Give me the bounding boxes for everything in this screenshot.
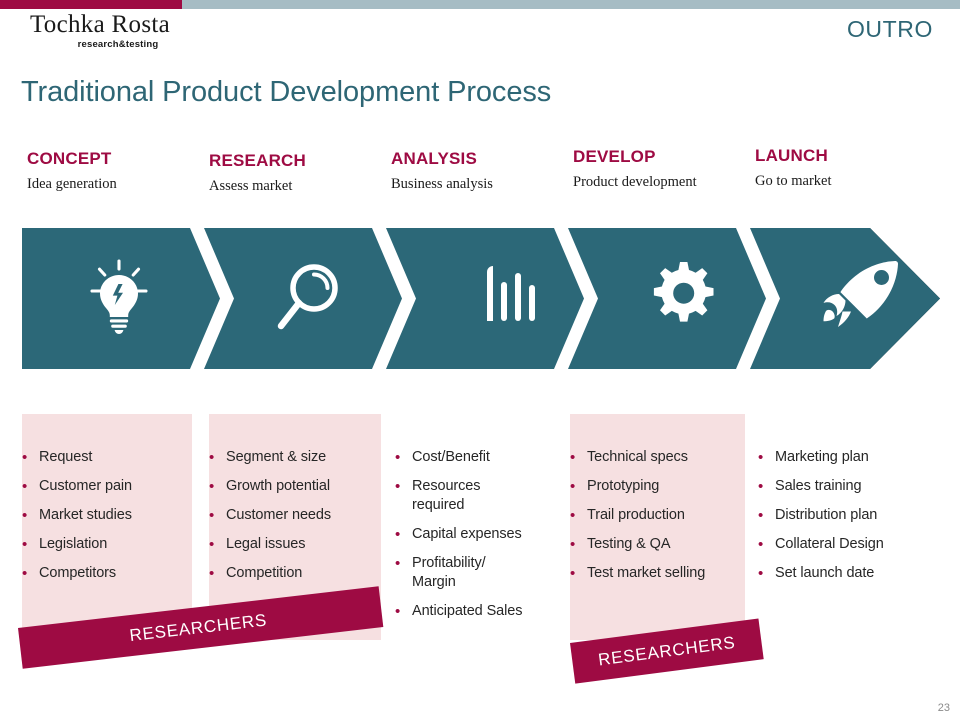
stage-subtitle: Go to market: [755, 174, 832, 189]
list-item-label: Cost/Benefit: [412, 448, 490, 467]
top-accent-bar-gray: [182, 0, 960, 9]
process-chevron-band: [22, 228, 940, 369]
bullet-glyph: •: [758, 535, 775, 554]
stage-subtitle: Assess market: [209, 179, 306, 194]
bullet-glyph: •: [22, 564, 39, 583]
list-item-label: Distribution plan: [775, 506, 877, 525]
list-item-label: Capital expenses: [412, 525, 522, 544]
list-item: • Prototyping: [570, 477, 745, 496]
stage-title: LAUNCH: [755, 147, 832, 164]
bullet-glyph: •: [395, 602, 412, 621]
bullet-glyph: •: [570, 506, 587, 525]
stage-title: ANALYSIS: [391, 150, 493, 167]
bullet-glyph: •: [209, 535, 226, 554]
list-item-label: Testing & QA: [587, 535, 670, 554]
list-item-label: Resources required: [412, 477, 508, 515]
list-item-label: Profitability/ Margin: [412, 554, 504, 592]
stage-subtitle: Business analysis: [391, 177, 493, 192]
list-item-label: Anticipated Sales: [412, 602, 522, 621]
stage-header-analysis: ANALYSIS Business analysis: [391, 150, 493, 192]
ribbon-label: RESEARCHERS: [597, 632, 737, 670]
company-logo: Tochka Rosta research&testing: [20, 12, 180, 50]
list-item-label: Customer needs: [226, 506, 331, 525]
stage-subtitle: Product development: [573, 175, 697, 190]
list-item: • Test market selling: [570, 564, 745, 583]
bullet-glyph: •: [395, 554, 412, 573]
stage-detail-panel-launch: • Marketing plan • Sales training • Dist…: [758, 414, 938, 640]
list-item-label: Legal issues: [226, 535, 305, 554]
list-item: • Capital expenses: [395, 525, 570, 544]
list-item-label: Sales training: [775, 477, 861, 496]
list-item: • Competitors: [22, 564, 192, 583]
stage-detail-panel-analysis: • Cost/Benefit • Resources required • Ca…: [395, 414, 570, 654]
list-item-label: Growth potential: [226, 477, 330, 496]
top-accent-bar-maroon: [0, 0, 182, 9]
list-item: • Distribution plan: [758, 506, 938, 525]
stage-header-launch: LAUNCH Go to market: [755, 147, 832, 189]
stage-header-develop: DEVELOP Product development: [573, 148, 697, 190]
list-item: • Customer needs: [209, 506, 381, 525]
list-item-label: Request: [39, 448, 92, 467]
list-item: • Trail production: [570, 506, 745, 525]
bullet-glyph: •: [22, 477, 39, 496]
list-item: • Marketing plan: [758, 448, 938, 467]
page-number: 23: [938, 702, 950, 714]
bullet-glyph: •: [395, 477, 412, 496]
list-item-label: Marketing plan: [775, 448, 869, 467]
bullet-glyph: •: [209, 506, 226, 525]
logo-name: Tochka Rosta: [20, 12, 180, 38]
stage-title: DEVELOP: [573, 148, 697, 165]
gear-icon: [654, 262, 714, 322]
page-title: Traditional Product Development Process: [21, 76, 551, 109]
logo-tagline: research&testing: [20, 39, 180, 50]
bullet-glyph: •: [758, 477, 775, 496]
list-item: • Sales training: [758, 477, 938, 496]
stage-title: RESEARCH: [209, 152, 306, 169]
bullet-glyph: •: [758, 448, 775, 467]
list-item-label: Technical specs: [587, 448, 688, 467]
list-item: • Resources required: [395, 477, 570, 515]
bullet-glyph: •: [395, 525, 412, 544]
list-item-label: Prototyping: [587, 477, 659, 496]
bullet-glyph: •: [22, 535, 39, 554]
bullet-glyph: •: [209, 448, 226, 467]
list-item: • Set launch date: [758, 564, 938, 583]
bullet-glyph: •: [570, 564, 587, 583]
list-item: • Technical specs: [570, 448, 745, 467]
stage-detail-panel-concept: • Request • Customer pain • Market studi…: [22, 414, 192, 640]
bullet-glyph: •: [570, 535, 587, 554]
bullet-glyph: •: [758, 564, 775, 583]
bullet-glyph: •: [758, 506, 775, 525]
stage-detail-panel-develop: • Technical specs • Prototyping • Trail …: [570, 414, 745, 640]
list-item-label: Segment & size: [226, 448, 326, 467]
ribbon-label: RESEARCHERS: [128, 610, 268, 646]
list-item: • Segment & size: [209, 448, 381, 467]
list-item: • Customer pain: [22, 477, 192, 496]
stage-title: CONCEPT: [27, 150, 117, 167]
stage-subtitle: Idea generation: [27, 177, 117, 192]
list-item: • Request: [22, 448, 192, 467]
slide-canvas: Tochka Rosta research&testing OUTRO Trad…: [0, 0, 960, 720]
list-item-label: Legislation: [39, 535, 107, 554]
list-item-label: Customer pain: [39, 477, 132, 496]
section-label: OUTRO: [847, 16, 933, 43]
bullet-glyph: •: [22, 506, 39, 525]
bullet-glyph: •: [209, 477, 226, 496]
list-item: • Legal issues: [209, 535, 381, 554]
list-item: • Competition: [209, 564, 381, 583]
list-item-label: Test market selling: [587, 564, 705, 583]
list-item-label: Trail production: [587, 506, 685, 525]
list-item-label: Competitors: [39, 564, 116, 583]
list-item: • Testing & QA: [570, 535, 745, 554]
stage-header-concept: CONCEPT Idea generation: [27, 150, 117, 192]
list-item: • Anticipated Sales: [395, 602, 570, 621]
list-item: • Cost/Benefit: [395, 448, 570, 467]
list-item: • Collateral Design: [758, 535, 938, 554]
list-item-label: Market studies: [39, 506, 132, 525]
bullet-glyph: •: [395, 448, 412, 467]
list-item: • Profitability/ Margin: [395, 554, 570, 592]
bullet-glyph: •: [209, 564, 226, 583]
bullet-glyph: •: [570, 477, 587, 496]
list-item-label: Competition: [226, 564, 302, 583]
bullet-glyph: •: [22, 448, 39, 467]
list-item: • Market studies: [22, 506, 192, 525]
stage-header-research: RESEARCH Assess market: [209, 152, 306, 194]
bullet-glyph: •: [570, 448, 587, 467]
list-item: • Growth potential: [209, 477, 381, 496]
list-item-label: Set launch date: [775, 564, 874, 583]
list-item: • Legislation: [22, 535, 192, 554]
list-item-label: Collateral Design: [775, 535, 884, 554]
